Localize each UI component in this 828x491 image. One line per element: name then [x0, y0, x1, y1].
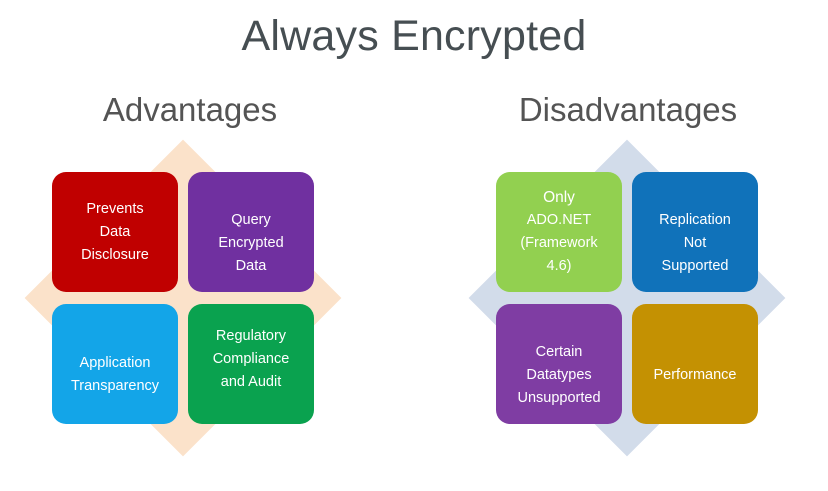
tile-line: Compliance [213, 348, 290, 371]
tile-line: Not [659, 232, 731, 255]
tile-line: Query [218, 209, 283, 232]
section-heading-disadvantages: Disadvantages [478, 88, 778, 132]
tile-label: Only ADO.NET (Framework 4.6) [520, 186, 597, 278]
tile-regulatory-compliance-and-audit[interactable]: Regulatory Compliance and Audit [188, 304, 314, 424]
tile-line: Data [218, 255, 283, 278]
tile-label: Replication Not Supported [659, 209, 731, 278]
tile-line: Data [81, 221, 149, 244]
tile-line: Supported [659, 255, 731, 278]
tile-label: Certain Datatypes Unsupported [517, 341, 600, 410]
disadvantages-quadrant-group: Only ADO.NET (Framework 4.6) Replication… [462, 140, 792, 456]
tile-line: Disclosure [81, 244, 149, 267]
tile-certain-datatypes-unsupported[interactable]: Certain Datatypes Unsupported [496, 304, 622, 424]
disadvantages-tile-grid: Only ADO.NET (Framework 4.6) Replication… [496, 172, 758, 424]
tile-replication-not-supported[interactable]: Replication Not Supported [632, 172, 758, 292]
tile-label: Performance [653, 364, 736, 387]
tile-line: Performance [653, 364, 736, 387]
tile-line: Unsupported [517, 387, 600, 410]
tile-performance[interactable]: Performance [632, 304, 758, 424]
tile-line: Application [71, 352, 159, 375]
tile-line: Prevents [81, 198, 149, 221]
tile-line: Regulatory [213, 325, 290, 348]
tile-line: Replication [659, 209, 731, 232]
tile-line: 4.6) [520, 255, 597, 278]
tile-label: Regulatory Compliance and Audit [213, 325, 290, 394]
tile-prevents-data-disclosure[interactable]: Prevents Data Disclosure [52, 172, 178, 292]
tile-line: Certain [517, 341, 600, 364]
tile-line: (Framework [520, 232, 597, 255]
tile-line: Encrypted [218, 232, 283, 255]
tile-line: ADO.NET [520, 209, 597, 232]
tile-line: and Audit [213, 371, 290, 394]
tile-line: Transparency [71, 375, 159, 398]
page-title: Always Encrypted [0, 8, 828, 64]
tile-line: Only [520, 186, 597, 209]
tile-application-transparency[interactable]: Application Transparency [52, 304, 178, 424]
advantages-tile-grid: Prevents Data Disclosure Query Encrypted… [52, 172, 314, 424]
tile-only-ado-net-framework[interactable]: Only ADO.NET (Framework 4.6) [496, 172, 622, 292]
tile-query-encrypted-data[interactable]: Query Encrypted Data [188, 172, 314, 292]
section-heading-advantages: Advantages [40, 88, 340, 132]
tile-label: Application Transparency [71, 352, 159, 398]
tile-line: Datatypes [517, 364, 600, 387]
slide-canvas: Always Encrypted Advantages Disadvantage… [0, 0, 828, 491]
tile-label: Query Encrypted Data [218, 209, 283, 278]
advantages-quadrant-group: Prevents Data Disclosure Query Encrypted… [18, 140, 348, 456]
tile-label: Prevents Data Disclosure [81, 198, 149, 267]
